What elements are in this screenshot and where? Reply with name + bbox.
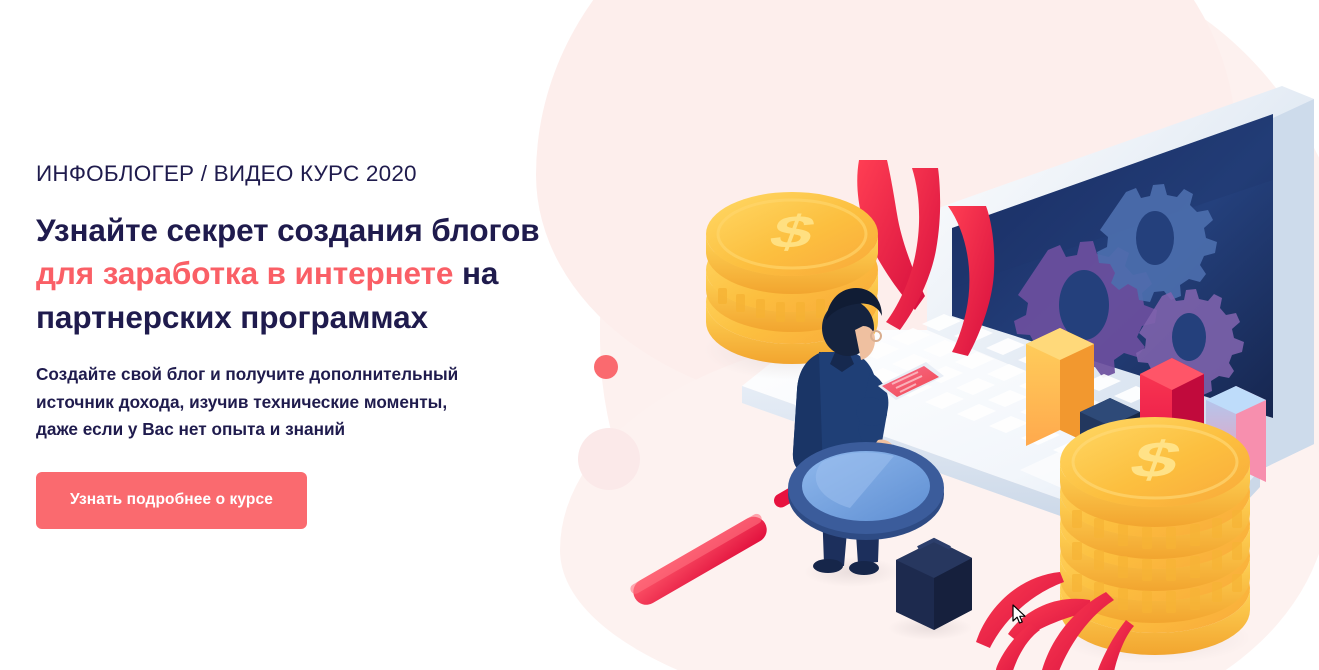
headline-line-3: партнерских программах: [36, 299, 428, 335]
subcopy-line-3: даже если у Вас нет опыта и знаний: [36, 419, 345, 439]
hero-section: ИНФОБЛОГЕР / ВИДЕО КУРС 2020 Узнайте сек…: [0, 0, 1319, 670]
page-title: Узнайте секрет создания блогов для зараб…: [36, 209, 576, 339]
hero-subcopy: Создайте свой блог и получите дополнител…: [36, 361, 576, 444]
hero-illustration: $: [560, 0, 1319, 670]
subcopy-line-1: Создайте свой блог и получите дополнител…: [36, 364, 458, 384]
briefcase: [888, 540, 972, 670]
hero-copy: ИНФОБЛОГЕР / ВИДЕО КУРС 2020 Узнайте сек…: [36, 160, 576, 529]
headline-accent: для заработка в интернете: [36, 255, 453, 291]
hero-eyebrow: ИНФОБЛОГЕР / ВИДЕО КУРС 2020: [36, 160, 576, 187]
headline-line-2-tail: на: [453, 255, 498, 291]
subcopy-line-2: источник дохода, изучив технические моме…: [36, 392, 447, 412]
lens: [788, 442, 944, 540]
coin-stack-lower: $: [1059, 417, 1251, 664]
learn-more-button[interactable]: Узнать подробнее о курсе: [36, 472, 307, 529]
headline-line-1: Узнайте секрет создания блогов: [36, 212, 539, 248]
